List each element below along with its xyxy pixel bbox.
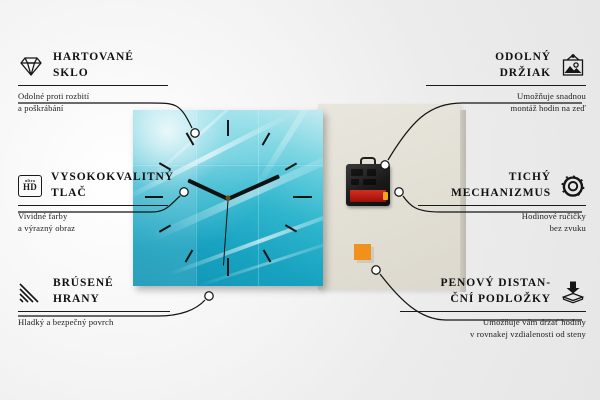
feature-title: PENOVÝ DISTAN-ČNÍ PODLOŽKY [441,276,551,307]
ultra-hd-badge-icon: ultra HD [18,175,42,197]
feature-silent-mechanism: TICHÝMECHANIZMUS Hodinové ručičkybez zvu… [418,170,586,235]
feature-title: TICHÝMECHANIZMUS [451,170,551,201]
foam-spacer-pad [354,244,371,260]
feature-title: HARTOVANÉSKLO [53,50,134,81]
gear-icon [560,174,586,198]
feature-description: Umožňuje snadnoumontáž hodin na zeď [426,90,586,115]
clock-mechanism [346,164,390,206]
diamond-icon [18,54,44,78]
feature-polished-edges: BRÚSENÉHRANY Hladký a bezpečný povrch [18,276,170,328]
feature-title: VYSOKOKVALITNÝTLAČ [51,170,174,201]
infographic-stage: HARTOVANÉSKLO Odolné proti rozbitía pošk… [0,0,600,400]
feature-description: Odolné proti rozbitía poškrábání [18,90,168,115]
divider [18,205,168,206]
feature-foam-spacers: PENOVÝ DISTAN-ČNÍ PODLOŽKY Umožňuje vám … [400,276,586,341]
feature-title: ODOLNÝDRŽIAK [495,50,551,81]
foam-spacer-icon [560,280,586,304]
feature-description: Hladký a bezpečný povrch [18,316,170,328]
divider [418,205,586,206]
feature-description: Vividné farbya výrazný obraz [18,210,168,235]
feature-description: Hodinové ručičkybez zvuku [418,210,586,235]
beveled-edge-icon [18,280,44,304]
feature-hq-print: ultra HD VYSOKOKVALITNÝTLAČ Vividné farb… [18,170,168,235]
picture-hanger-icon [560,54,586,78]
product-photo [133,104,460,290]
divider [18,311,170,312]
battery [350,190,386,202]
feature-durable-holder: ODOLNÝDRŽIAK Umožňuje snadnoumontáž hodi… [426,50,586,115]
feature-tempered-glass: HARTOVANÉSKLO Odolné proti rozbitía pošk… [18,50,168,115]
divider [426,85,586,86]
feature-description: Umožňuje vám držať hodinyv rovnakej vzdi… [400,316,586,341]
divider [400,311,586,312]
feature-title: BRÚSENÉHRANY [53,276,114,307]
divider [18,85,168,86]
